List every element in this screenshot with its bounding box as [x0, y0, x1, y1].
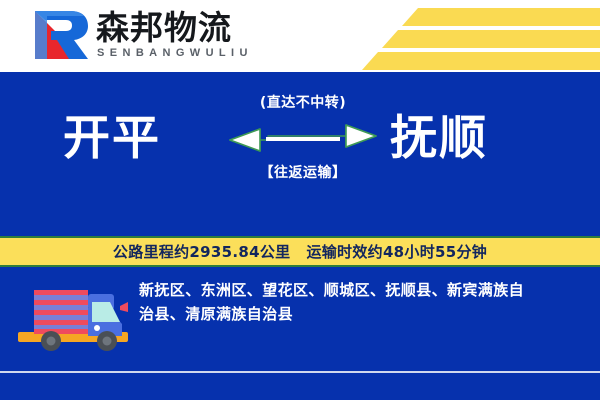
distance-bar: 公路里程约2935.84公里 运输时效约48小时55分钟 [0, 236, 600, 267]
coverage-line-1: 新抚区、东洲区、望花区、顺城区、抚顺县、新宾满族自 [139, 278, 585, 302]
company-name-en: SENBANGWULIU [97, 47, 253, 59]
mileage-label: 公路里程约2935.84公里 [113, 241, 291, 262]
banner-header: 森邦物流 SENBANGWULIU [0, 0, 600, 72]
logistics-route-banner: 森邦物流 SENBANGWULIU 开平 (直达不中转) [0, 0, 600, 400]
yellow-speed-stripes-icon [310, 0, 600, 72]
coverage-line-2: 治县、清原满族自治县 [139, 302, 585, 326]
bidirectional-arrow-icon [228, 120, 378, 156]
bottom-divider [0, 371, 600, 373]
senbang-logo-mark-icon [33, 9, 89, 61]
coverage-area: 新抚区、东洲区、望花区、顺城区、抚顺县、新宾满族自 治县、清原满族自治县 [139, 278, 585, 326]
route-middle: (直达不中转) 【往返运输】 [228, 86, 378, 222]
delivery-truck-icon [14, 280, 132, 352]
destination-city: 抚顺 [390, 112, 488, 166]
roundtrip-note: 【往返运输】 [228, 162, 378, 182]
route-section: 开平 (直达不中转) 【往返运输】 抚顺 [0, 72, 600, 236]
duration-label: 运输时效约48小时55分钟 [306, 241, 487, 262]
direct-note: (直达不中转) [228, 92, 378, 112]
company-name-cn: 森邦物流 [96, 9, 232, 47]
origin-city: 开平 [63, 112, 161, 166]
